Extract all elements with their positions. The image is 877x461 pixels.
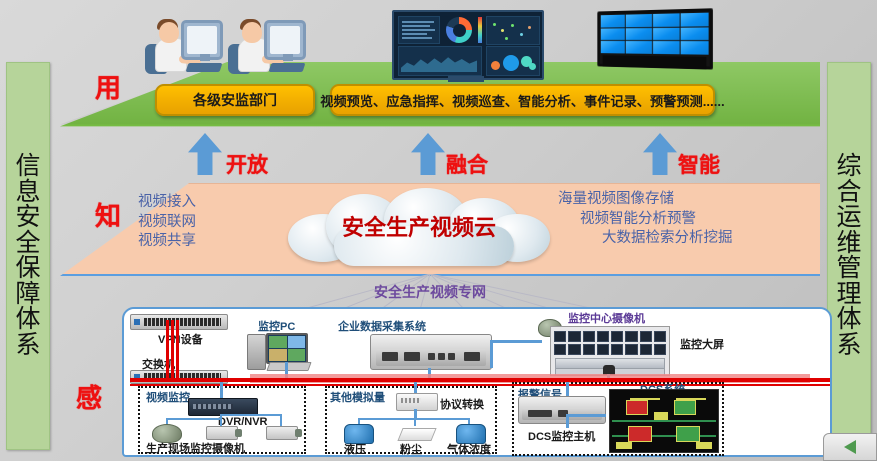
dash-donut-chart [446,17,472,43]
label-dust: 粉尘 [400,441,422,457]
label-monitoring-center-camera: 监控中心摄像机 [568,310,645,326]
pillar-left-char-4: 保 [15,256,40,282]
pillar-left-char-1: 息 [15,180,40,206]
link-dvr-fanout-left [166,418,222,420]
pillar-right-char-3: 维 [836,231,861,257]
dcs-hmi-screen [609,389,719,453]
arrow-up-open-icon [188,133,222,175]
dash-area-chart [398,46,482,76]
vpn-device-icon [130,314,228,330]
cloud-shape: 安全生产视频云 [288,188,550,266]
dust-sensor-icon [397,428,436,441]
private-network-band: 安全生产视频专网 [180,274,680,310]
link-dvr-fanout-right [220,414,282,416]
pillar-right-char-6: 体 [836,307,861,333]
pillar-right-char-5: 理 [836,282,861,308]
link-dcs-to-system [566,414,606,417]
label-video-surveillance: 视频监控 [146,389,190,405]
link-cam3 [280,414,282,426]
arrow-label-open: 开放 [226,149,268,179]
pc-tower-icon [247,334,266,370]
capability-video-networking: 视频联网 [116,213,196,233]
dash-scatter-panel [486,16,540,45]
label-dcs-host: DCS监控主机 [528,428,595,444]
link-converter-to-bus [414,382,417,393]
keyboard-icon [186,63,223,72]
box-safety-supervision-departments[interactable]: 各级安监部门 [155,84,315,116]
box-camera-icon-2 [266,426,298,440]
pillar-left-char-2: 安 [15,205,40,231]
video-wall-display [597,8,713,69]
private-network-label: 安全生产视频专网 [180,282,680,302]
diagram-canvas: 信 息 安 全 保 障 体 系 综 合 运 维 管 理 体 系 用 [0,0,877,461]
label-protocol-conversion: 协议转换 [440,396,484,412]
link-sensor-2 [414,418,416,426]
pillar-right-char-1: 合 [836,180,861,206]
pillar-left-char-6: 体 [15,307,40,333]
pc-monitor-icon [266,333,308,364]
data-acquisition-server-icon [370,334,492,370]
arrow-up-intelligent-icon [643,133,677,175]
arrow-left-icon [844,440,856,454]
arrow-up-fusion-icon [411,133,445,175]
dash-color-scale [478,17,482,43]
monitor-stand-icon [283,54,293,61]
trunk-line-red-2 [171,320,174,378]
box-application-functions[interactable]: 视频预览、应急指挥、视频巡查、智能分析、事件记录、预警预测...... [330,84,715,116]
link-cam2 [220,416,222,426]
protocol-converter-icon [396,393,438,411]
pillar-left-char-5: 障 [15,282,40,308]
cloud-label-video-cloud: 安全生产视频云 [288,210,550,242]
cloud-capabilities-right: 海量视频图像存储 视频智能分析预警 大数据检索分析挖掘 [558,190,733,249]
pillar-right-char-4: 管 [836,256,861,282]
field-bus-line-1 [130,378,830,382]
link-server-to-camera-v [490,340,493,368]
pillar-operations-management: 综 合 运 维 管 理 体 系 [827,62,871,450]
label-enterprise-data-acquisition: 企业数据采集系统 [338,318,426,334]
arrow-label-intelligent: 智能 [678,149,720,179]
dash-table-left [398,16,440,44]
corner-scroll-tab[interactable] [823,433,877,461]
person-head-icon [159,22,179,43]
pillar-left-char-7: 系 [15,333,40,359]
capability-intelligent-analysis-alarm: 视频智能分析预警 [580,210,733,230]
pillar-left-char-0: 信 [15,154,40,180]
pillar-left-char-3: 全 [15,231,40,257]
capability-bigdata-mining: 大数据检索分析挖掘 [602,229,733,249]
label-field-cameras: 生产现场监控摄像机 [146,440,245,456]
arrow-label-fusion: 融合 [446,149,488,179]
label-monitoring-pc: 监控PC [258,318,295,334]
capability-video-access: 视频接入 [138,193,196,213]
link-dvr-to-bus [220,382,223,398]
pillar-information-security: 信 息 安 全 保 障 体 系 [6,62,50,450]
link-dcs-to-bus [566,382,569,396]
operator-workstation-1 [145,16,223,78]
dcs-host-icon [518,396,606,424]
pillar-right-char-2: 运 [836,205,861,231]
label-vpn-device: VPN设备 [158,331,203,347]
trunk-line-red-1 [166,320,169,378]
capability-video-sharing: 视频共享 [94,232,196,252]
capability-mass-video-storage: 海量视频图像存储 [558,190,733,210]
box-camera-icon-1 [206,426,238,440]
tier-label-sense: 感 [76,378,102,415]
dashboard-stand-icon [448,76,484,82]
keyboard-icon [269,63,306,72]
label-gas-concentration: 气体浓度 [447,441,491,457]
cloud-capabilities-left: 视频接入 视频联网 视频共享 [138,193,196,252]
pillar-right-char-7: 系 [836,333,861,359]
bi-dashboard-screen [392,10,544,80]
pc-keyboard-icon [266,362,311,371]
link-server-to-camera-h [490,340,542,343]
tier-label-apply: 用 [95,68,121,105]
dash-bubble-chart [486,46,540,76]
video-wall-grid [601,13,709,55]
label-other-analog: 其他模拟量 [330,389,385,405]
label-hydraulic: 液压 [344,441,366,457]
label-monitoring-big-screen: 监控大屏 [680,336,724,352]
control-room-photo [550,326,670,376]
trunk-line-red-3 [176,320,179,378]
pillar-right-char-0: 综 [836,154,861,180]
operator-workstation-2 [228,16,306,78]
person-head-icon [242,22,262,43]
monitor-stand-icon [200,54,210,61]
